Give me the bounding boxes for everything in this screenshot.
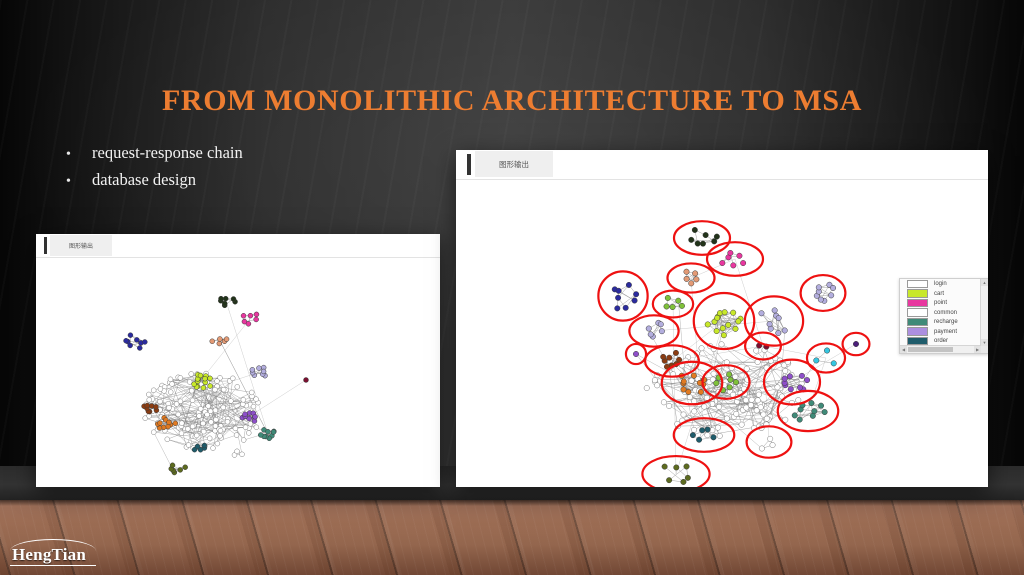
legend-label: recharge: [934, 319, 958, 325]
legend-label: login: [934, 281, 947, 287]
legend-vertical-scrollbar[interactable]: ▲ ▼: [980, 279, 988, 346]
legend-item: cart: [907, 289, 981, 298]
scroll-right-icon[interactable]: ▶: [974, 346, 981, 353]
legend-label: order: [934, 338, 948, 344]
page-title: FROM MONOLITHIC ARCHITECTURE TO MSA: [0, 84, 1024, 118]
slide-canvas: HengTian FROM MONOLITHIC ARCHITECTURE TO…: [0, 0, 1024, 575]
tab-bar: 图形输出: [456, 150, 988, 180]
tab-graph-output[interactable]: 图形输出: [50, 235, 112, 256]
legend-swatch-icon: [907, 280, 928, 288]
bullet-marker-icon: •: [66, 145, 92, 165]
tab-graph-output[interactable]: 图形输出: [475, 151, 553, 177]
scroll-down-icon[interactable]: ▼: [981, 339, 988, 346]
legend-item: payment: [907, 327, 981, 336]
legend-swatch-icon: [907, 308, 928, 316]
logo-text: HengTian: [12, 546, 100, 563]
floor-grain: [0, 500, 1024, 575]
legend-label: point: [934, 300, 947, 306]
list-item: • database design: [66, 170, 416, 192]
bullet-list: • request-response chain • database desi…: [66, 143, 416, 197]
legend-item: point: [907, 299, 981, 308]
floor-shadow: [0, 500, 1024, 506]
legend-label: cart: [934, 291, 944, 297]
scroll-up-icon[interactable]: ▲: [981, 279, 988, 286]
legend-swatch-icon: [907, 327, 928, 335]
tab-bar: 图形输出: [36, 234, 440, 258]
network-graph-left: [36, 258, 440, 487]
legend-item: common: [907, 308, 981, 317]
logo-underline: [10, 565, 96, 566]
scrollbar-corner: [981, 346, 988, 353]
legend-box-right[interactable]: logincartpointcommonrechargepaymentorder…: [899, 278, 988, 354]
legend-swatch-icon: [907, 289, 928, 297]
tab-accent-bar: [467, 154, 471, 175]
app-window-right: 图形输出 logincartpointcommonrechargepayment…: [456, 150, 988, 487]
bullet-marker-icon: •: [66, 172, 92, 192]
scroll-left-icon[interactable]: ◀: [900, 346, 907, 353]
legend-swatch-icon: [907, 299, 928, 307]
tab-accent-bar: [44, 237, 47, 254]
legend-label: common: [934, 310, 957, 316]
legend-horizontal-scrollbar[interactable]: ◀ ▶: [900, 345, 981, 353]
list-item: • request-response chain: [66, 143, 416, 165]
graph-canvas-left[interactable]: [36, 258, 440, 487]
bullet-text: database design: [92, 170, 196, 190]
bullet-text: request-response chain: [92, 143, 243, 163]
legend-item: recharge: [907, 318, 981, 327]
wooden-floor: [0, 500, 1024, 575]
scroll-thumb[interactable]: [908, 347, 953, 352]
legend-items-right: logincartpointcommonrechargepaymentorder…: [900, 279, 981, 346]
app-window-left: 图形输出 logincartpointcommonrechargepayment…: [36, 234, 440, 487]
hengtian-logo: HengTian: [8, 538, 100, 572]
legend-swatch-icon: [907, 318, 928, 326]
legend-label: payment: [934, 329, 957, 335]
legend-item: login: [907, 280, 981, 289]
